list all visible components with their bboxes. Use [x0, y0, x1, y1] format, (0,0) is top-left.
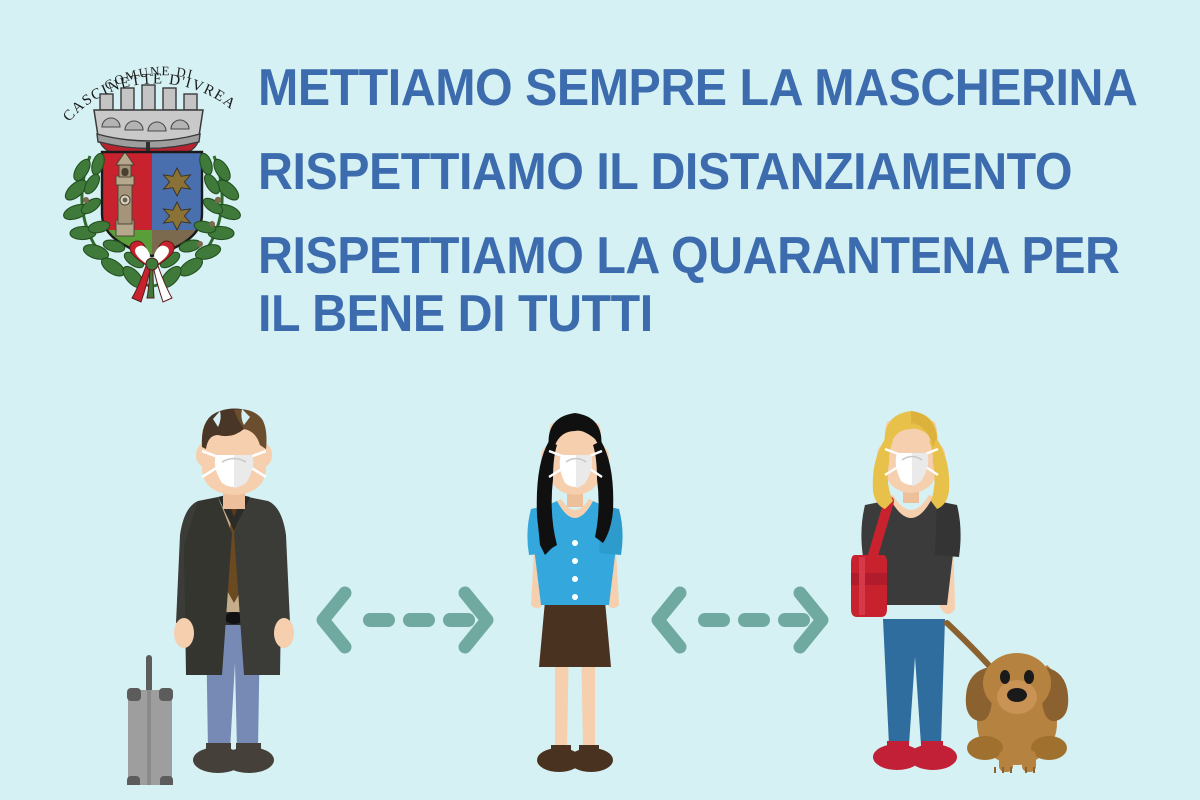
blonde-shoes	[873, 741, 957, 770]
poster-canvas: COMUNE DI CASCINETTE D'IVREA	[0, 0, 1200, 800]
headline-line-3: RISPETTIAMO LA QUARANTENA PER	[258, 230, 1114, 282]
rolling-suitcase-icon	[127, 655, 173, 785]
comune-crest: COMUNE DI CASCINETTE D'IVREA	[42, 24, 262, 309]
blonde-jeans	[883, 619, 945, 745]
woman-skirt	[539, 601, 611, 667]
headline-line-1: METTIAMO SEMPRE LA MASCHERINA	[258, 62, 1114, 114]
dog-icon	[966, 653, 1069, 773]
illustration-scene	[0, 395, 1200, 800]
figure-woman-with-dog	[835, 405, 1095, 785]
figure-man-with-suitcase	[110, 405, 325, 785]
distance-arrow-right	[650, 585, 830, 655]
crest-crown-icon	[94, 85, 203, 160]
headline-line-4: IL BENE DI TUTTI	[258, 288, 1114, 340]
headline-line-2: RISPETTIAMO IL DISTANZIAMENTO	[258, 146, 1114, 198]
headline-block: METTIAMO SEMPRE LA MASCHERINA RISPETTIAM…	[258, 62, 1178, 340]
distance-arrow-left	[315, 585, 495, 655]
chevron-left-icon	[323, 593, 345, 647]
arrow-dashes	[698, 613, 810, 627]
chevron-left-icon	[658, 593, 680, 647]
arrow-dashes	[363, 613, 475, 627]
man-shoes	[193, 743, 274, 773]
figure-woman-blue-blouse	[495, 405, 655, 785]
woman-shoes	[537, 745, 613, 772]
